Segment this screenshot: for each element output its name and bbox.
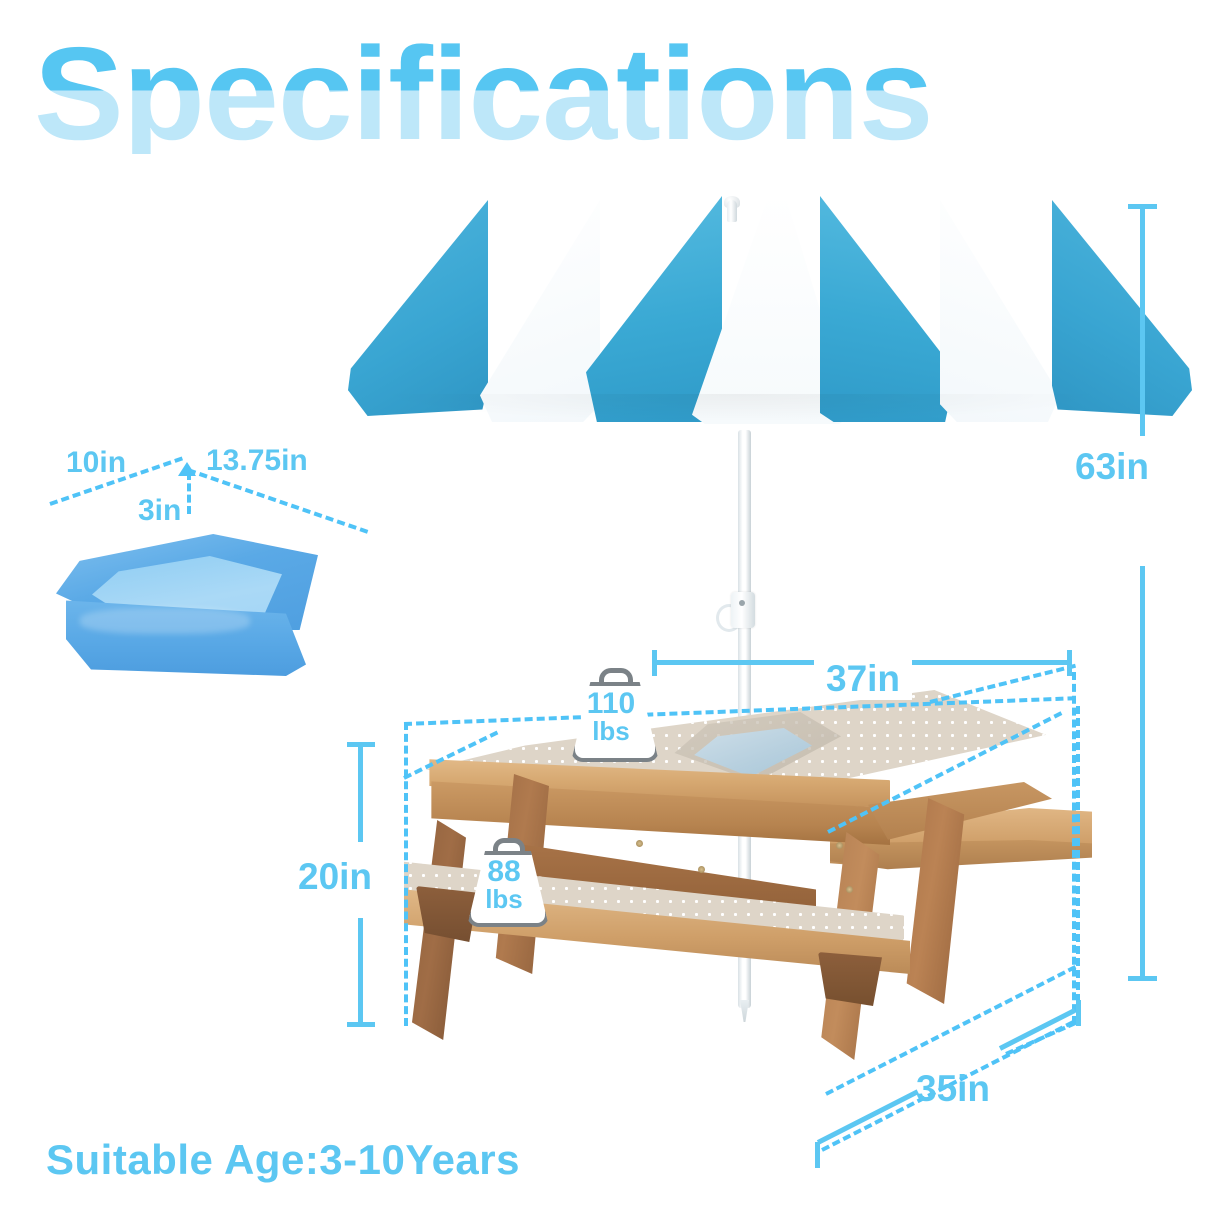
- dim-35in-cap-upper: [1076, 1000, 1081, 1026]
- dim-20in-cap-bottom: [347, 1022, 375, 1027]
- sand-tray-group: 10in 13.75in 3in: [28, 438, 378, 688]
- umbrella-panel-white-2: [940, 200, 1060, 422]
- dim-63in-cap-top: [1128, 204, 1157, 209]
- screw-icon: [836, 842, 843, 849]
- dim-37in-cap-right: [1067, 650, 1072, 676]
- dim-63in-label: 63in: [1075, 446, 1149, 488]
- tray-depth-arrow-icon: [178, 462, 196, 476]
- umbrella-hem-shadow: [370, 394, 1110, 422]
- capacity-badge-bench: 88 lbs: [465, 838, 543, 920]
- dim-20in-label: 20in: [298, 856, 372, 898]
- dim-63in-line-lower: [1140, 566, 1145, 980]
- tray-width-right-label: 13.75in: [206, 444, 308, 478]
- dim-20in-line-upper: [358, 742, 363, 842]
- umbrella-tilt-screw-icon: [739, 600, 745, 606]
- umbrella-tilt-mechanism: [731, 592, 755, 628]
- bbox-edge-front-left: [404, 722, 408, 1026]
- specifications-page: Specifications 10in 13.75in 3in: [0, 0, 1214, 1214]
- capacity-badge-bench-unit: lbs: [465, 886, 543, 912]
- screw-icon: [636, 840, 643, 847]
- capacity-badge-bench-value: 88: [465, 858, 543, 886]
- tray-highlight: [80, 608, 250, 634]
- capacity-badge-tabletop: 110 lbs: [569, 668, 653, 754]
- tray-width-left-label: 10in: [66, 446, 126, 480]
- umbrella-panel-blue-3: [820, 196, 956, 422]
- dim-35in-label: 35in: [916, 1068, 990, 1110]
- bench-support-right: [818, 952, 882, 1006]
- screw-icon: [846, 886, 853, 893]
- dim-37in-label: 37in: [814, 658, 912, 700]
- tray-depth-label: 3in: [138, 494, 181, 528]
- umbrella-canopy: [340, 196, 1140, 436]
- dim-63in-cap-bottom: [1128, 976, 1157, 981]
- suitable-age-note: Suitable Age:3-10Years: [46, 1136, 520, 1184]
- dim-35in-line-lower: [817, 1089, 919, 1144]
- capacity-badge-tabletop-value: 110: [569, 690, 653, 718]
- dim-63in-line-upper: [1140, 204, 1145, 436]
- tray-depth-line: [187, 472, 191, 514]
- screw-icon: [698, 866, 705, 873]
- sand-tray-illustration: [56, 534, 318, 682]
- bbox-edge-front-right: [1076, 706, 1080, 1026]
- dim-20in-line-lower: [358, 918, 363, 1026]
- umbrella-panel-white-1: [480, 200, 600, 422]
- umbrella-panel-blue-1: [348, 200, 488, 416]
- umbrella-panel-blue-4: [1052, 200, 1192, 416]
- dim-20in-cap-top: [347, 742, 375, 747]
- page-title: Specifications: [34, 34, 1214, 154]
- capacity-badge-tabletop-unit: lbs: [569, 718, 653, 744]
- dim-35in-cap-lower: [815, 1142, 820, 1168]
